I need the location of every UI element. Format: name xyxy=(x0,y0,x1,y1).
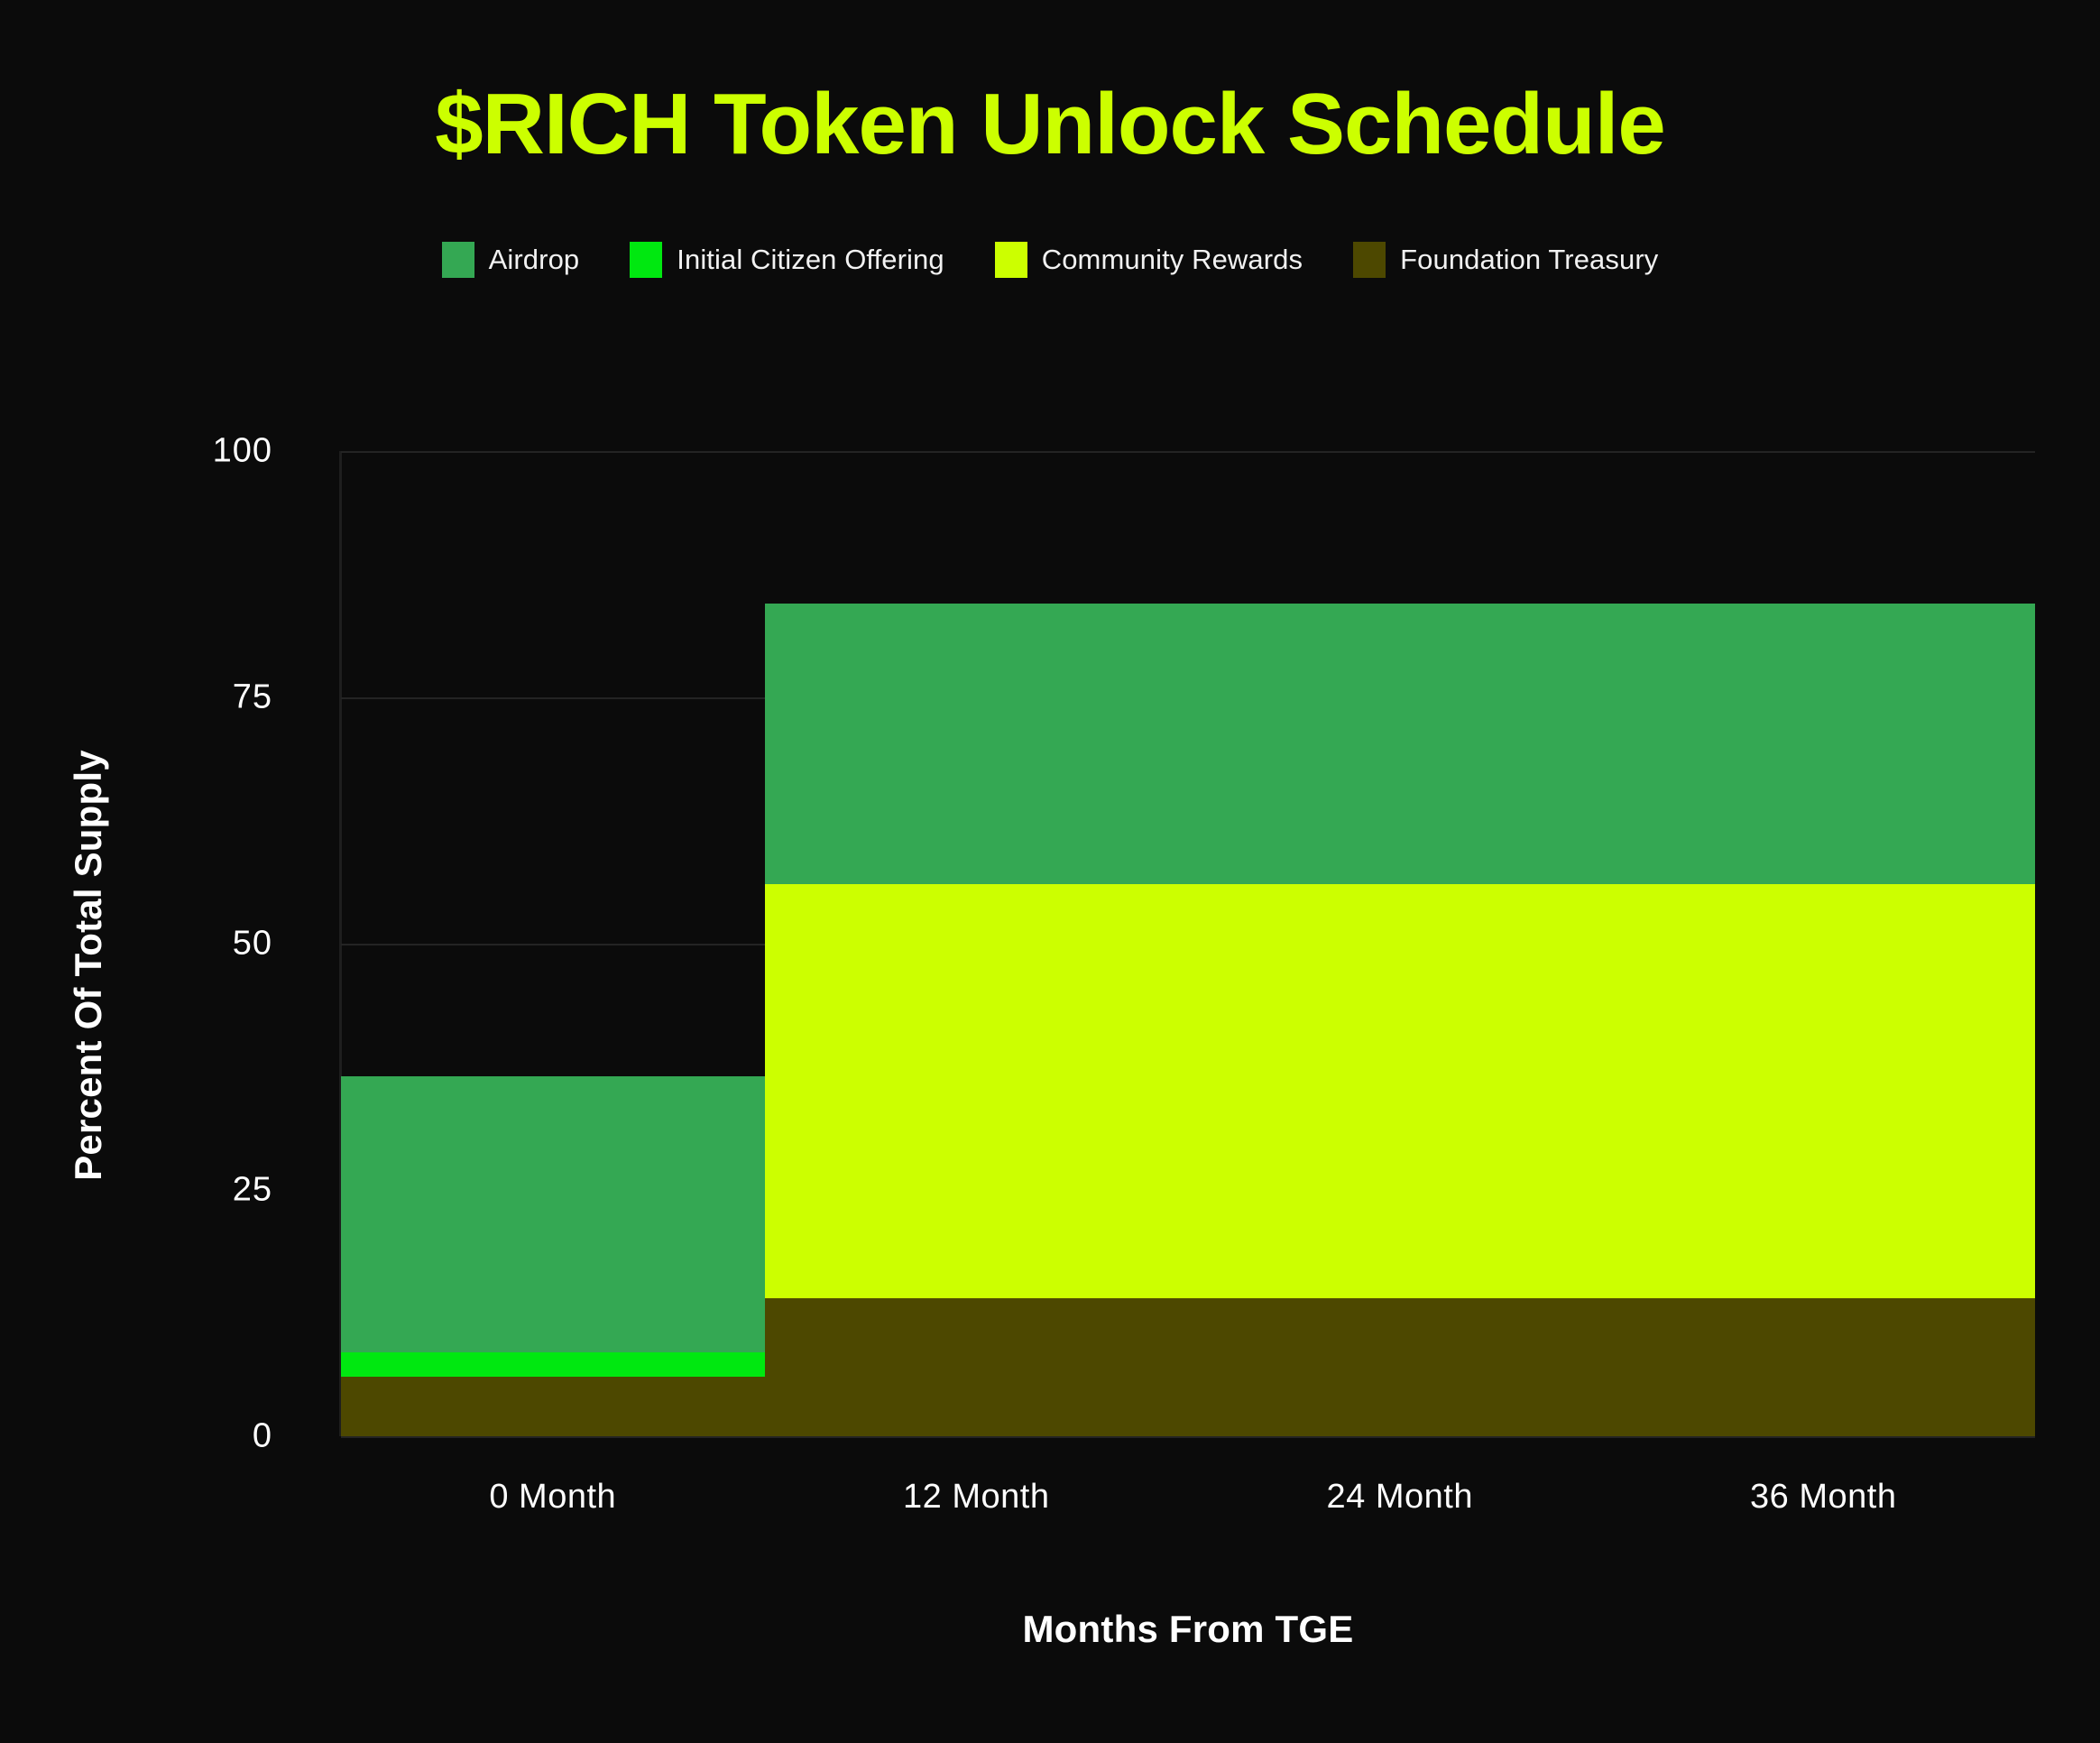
x-tick-label: 36 Month xyxy=(1634,1478,2012,1517)
bar-segment[interactable] xyxy=(765,1298,1189,1436)
bar-segment[interactable] xyxy=(1188,884,1612,1298)
bar-segment[interactable] xyxy=(341,1352,765,1377)
bar-segment[interactable] xyxy=(341,1076,765,1352)
bar-segment[interactable] xyxy=(765,604,1189,884)
bar-segment[interactable] xyxy=(765,884,1189,1298)
gridline xyxy=(341,1436,2035,1438)
y-tick-label: 50 xyxy=(2,925,272,964)
bar-segment[interactable] xyxy=(341,1377,765,1436)
bar-segment[interactable] xyxy=(1188,1298,1612,1436)
x-tick-label: 24 Month xyxy=(1211,1478,1589,1517)
y-tick-label: 75 xyxy=(2,678,272,717)
bar-segment[interactable] xyxy=(1188,604,1612,884)
bar-segment[interactable] xyxy=(1612,1298,2036,1436)
y-tick-label: 0 xyxy=(2,1417,272,1456)
x-tick-label: 12 Month xyxy=(787,1478,1165,1517)
y-tick-label: 100 xyxy=(2,432,272,471)
plot-wrapper: 1007550250 0 Month12 Month24 Month36 Mon… xyxy=(0,0,2100,1743)
gridline xyxy=(341,451,2035,453)
y-tick-label: 25 xyxy=(2,1171,272,1210)
bar-segment[interactable] xyxy=(1612,604,2036,884)
chart-canvas: $RICH Token Unlock Schedule AirdropIniti… xyxy=(0,0,2100,1743)
y-axis-title: Percent Of Total Supply xyxy=(67,686,110,1245)
x-axis-title: Months From TGE xyxy=(341,1608,2035,1651)
plot-area xyxy=(341,451,2035,1436)
bar-segment[interactable] xyxy=(1612,884,2036,1298)
x-tick-label: 0 Month xyxy=(364,1478,742,1517)
